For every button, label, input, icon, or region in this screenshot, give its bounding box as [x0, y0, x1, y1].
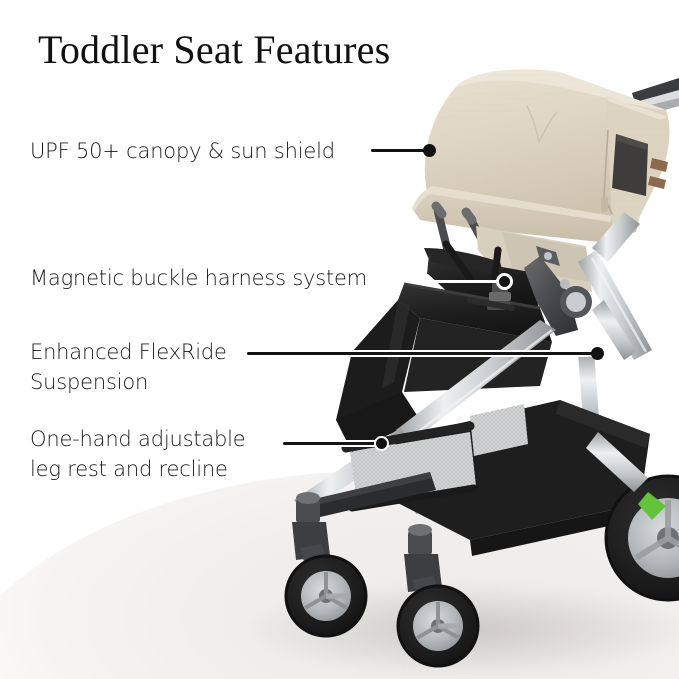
leader-endpoint-dot	[496, 273, 513, 290]
leader-endpoint-dot	[591, 347, 604, 360]
leader-endpoint-dot	[374, 436, 389, 451]
toddler-seat-features-infographic: Toddler Seat Features UPF 50+ canopy & s…	[0, 0, 679, 679]
callout-label-leg-rest-recline: One-hand adjustable leg rest and recline	[30, 424, 246, 484]
page-title: Toddler Seat Features	[38, 26, 390, 73]
canopy-mesh-window	[612, 134, 648, 196]
leader-line-segment	[412, 280, 508, 283]
leader-line-segment	[247, 352, 599, 355]
callout-label-flexride-suspension: Enhanced FlexRide Suspension	[30, 337, 227, 397]
front-swivel-wheel-right	[398, 524, 478, 666]
callout-label-magnetic-buckle: Magnetic buckle harness system	[30, 263, 367, 293]
leader-endpoint-dot	[423, 144, 436, 157]
leader-line-segment	[283, 442, 383, 445]
leader-line-segment	[371, 149, 431, 152]
callout-label-upf-canopy: UPF 50+ canopy & sun shield	[30, 136, 335, 166]
canopy-zipper-pull	[601, 196, 608, 212]
